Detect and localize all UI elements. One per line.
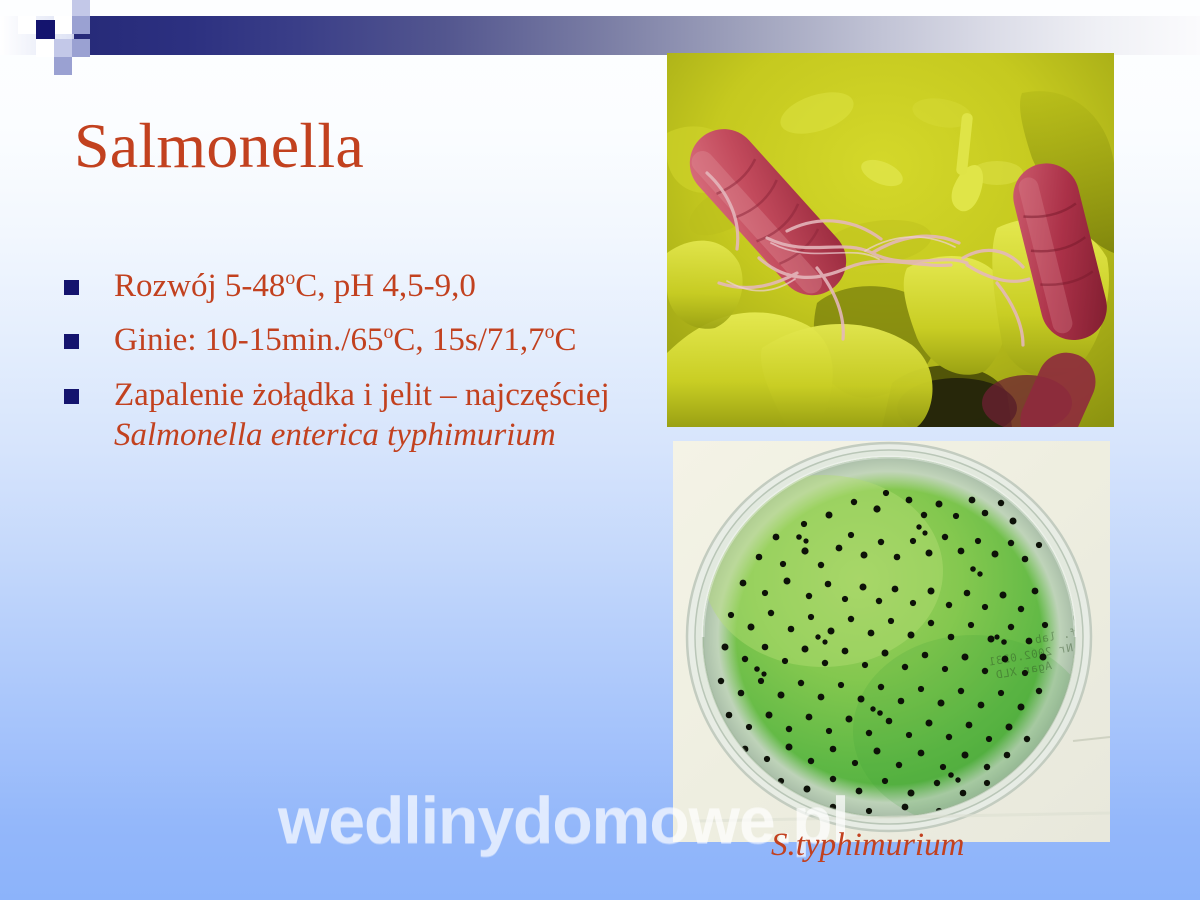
presentation-slide: Salmonella Rozwój 5-48oC, pH 4,5-9,0 Gin… <box>0 0 1200 900</box>
bullet-2-post: C <box>555 322 577 358</box>
bullet-square-icon <box>64 280 79 295</box>
bullet-list: Rozwój 5-48oC, pH 4,5-9,0 Ginie: 10-15mi… <box>64 266 654 469</box>
salmonella-sem-micrograph <box>667 53 1114 427</box>
bullet-square-icon <box>64 334 79 349</box>
list-item: Ginie: 10-15min./65oC, 15s/71,7oC <box>64 320 654 360</box>
bullet-2-pre: Ginie: 10-15min./65 <box>114 322 383 358</box>
header-band <box>72 16 1200 55</box>
species-name-italic: Salmonella enterica typhimurium <box>114 417 556 453</box>
list-item: Zapalenie żołądka i jelit – najczęściej … <box>64 375 654 456</box>
bullet-2-mid: C, 15s/71,7 <box>393 322 544 358</box>
decor-square <box>72 16 90 34</box>
decor-square <box>36 39 54 57</box>
bullet-1-pre: Rozwój 5-48 <box>114 268 285 304</box>
decor-square <box>54 39 72 57</box>
bullet-3-pre: Zapalenie żołądka i jelit – najczęściej <box>114 377 610 413</box>
salmonella-petri-dish: 08.00 EU ref. lab Nr 2002.0231 Agar XLD <box>673 441 1110 842</box>
bullet-item-3-text: Zapalenie żołądka i jelit – najczęściej … <box>114 375 654 456</box>
petri-dish-caption: S.typhimurium <box>771 827 964 864</box>
degree-sup: o <box>545 321 555 343</box>
bullet-item-1-text: Rozwój 5-48oC, pH 4,5-9,0 <box>114 266 654 306</box>
decor-square <box>54 57 72 75</box>
decor-square <box>90 16 91 17</box>
bullet-item-2-text: Ginie: 10-15min./65oC, 15s/71,7oC <box>114 320 654 360</box>
bullet-square-icon <box>64 389 79 404</box>
list-item: Rozwój 5-48oC, pH 4,5-9,0 <box>64 266 654 306</box>
decorative-squares-motif <box>0 0 120 80</box>
degree-sup: o <box>285 267 295 289</box>
decor-square-navy <box>36 20 55 39</box>
bullet-1-mid: C, pH 4,5-9,0 <box>295 268 476 304</box>
degree-sup: o <box>383 321 393 343</box>
decor-square <box>18 16 36 34</box>
slide-title: Salmonella <box>74 112 364 179</box>
decor-square <box>54 16 72 34</box>
decor-square <box>72 39 90 57</box>
petri-image-graphic: 08.00 EU ref. lab Nr 2002.0231 Agar XLD <box>673 441 1110 842</box>
sem-image-graphic <box>667 53 1114 427</box>
